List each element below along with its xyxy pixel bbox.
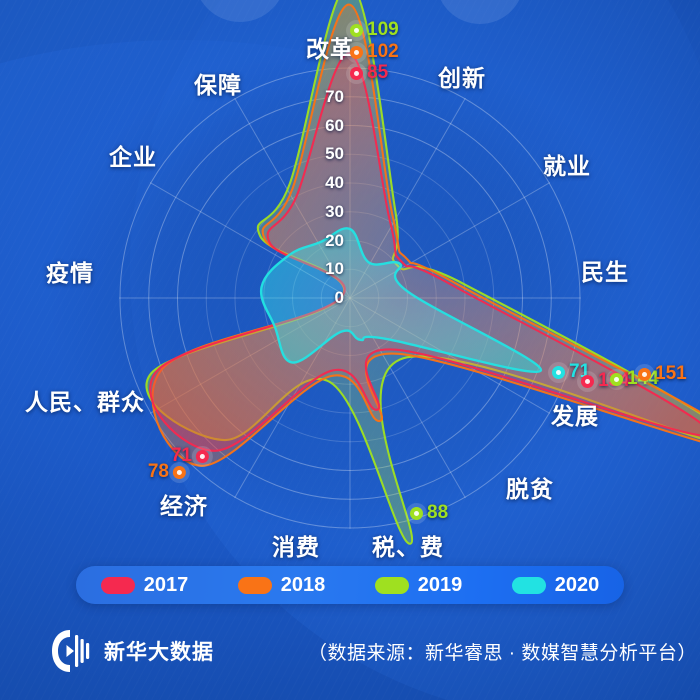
radial-tick-30: 30	[325, 202, 344, 222]
data-source-note: （数据来源：新华睿思 · 数媒智慧分析平台）	[308, 638, 697, 665]
callout-dot-icon	[638, 368, 651, 381]
callout-value: 78	[148, 461, 169, 483]
axis-label-1: 创新	[438, 59, 486, 93]
legend-item-2018[interactable]: 2018	[238, 574, 326, 597]
value-callout: 78	[148, 461, 186, 483]
xinhua-bigdata-logo-icon	[50, 628, 92, 674]
axis-label-2: 就业	[543, 147, 591, 181]
axis-label-3: 民生	[581, 253, 629, 287]
radial-tick-20: 20	[325, 231, 344, 251]
axis-label-6: 税、费	[372, 528, 444, 562]
value-callout: 109	[350, 19, 399, 41]
callout-dot-icon	[610, 373, 623, 386]
radial-tick-60: 60	[325, 116, 344, 136]
radial-tick-0: 0	[335, 288, 344, 308]
legend-label: 2017	[144, 574, 189, 597]
axis-label-12: 保障	[194, 66, 242, 100]
radial-tick-40: 40	[325, 173, 344, 193]
axis-label-0: 改革	[306, 30, 354, 64]
callout-value: 85	[367, 62, 388, 84]
callout-dot-icon	[196, 450, 209, 463]
legend-item-2019[interactable]: 2019	[375, 574, 463, 597]
axis-label-10: 疫情	[46, 254, 94, 288]
footer: 新华大数据 （数据来源：新华睿思 · 数媒智慧分析平台）	[0, 612, 700, 700]
axis-label-11: 企业	[109, 138, 157, 172]
brand: 新华大数据	[50, 628, 214, 674]
callout-dot-icon	[410, 507, 423, 520]
legend-swatch-icon	[375, 577, 409, 594]
axis-label-4: 发展	[551, 397, 599, 431]
callout-value: 88	[427, 502, 448, 524]
value-callout: 85	[350, 62, 388, 84]
legend-label: 2020	[555, 574, 600, 597]
callout-value: 109	[367, 19, 399, 41]
axis-label-9: 人民、群众	[25, 383, 145, 417]
legend-swatch-icon	[238, 577, 272, 594]
callout-value: 151	[655, 363, 687, 385]
legend[interactable]: 2017201820192020	[76, 566, 624, 604]
legend-item-2020[interactable]: 2020	[512, 574, 600, 597]
callout-value: 102	[367, 41, 399, 63]
callout-dot-icon	[350, 67, 363, 80]
legend-label: 2018	[281, 574, 326, 597]
infographic-canvas: 改革创新就业民生发展脱贫税、费消费经济人民、群众疫情企业保障 010203040…	[0, 0, 700, 700]
callout-dot-icon	[552, 366, 565, 379]
axis-label-7: 消费	[272, 528, 320, 562]
legend-label: 2019	[418, 574, 463, 597]
callout-dot-icon	[173, 466, 186, 479]
callout-dot-icon	[350, 24, 363, 37]
legend-swatch-icon	[512, 577, 546, 594]
legend-item-2017[interactable]: 2017	[101, 574, 189, 597]
callout-dot-icon	[581, 375, 594, 388]
radial-tick-50: 50	[325, 144, 344, 164]
axis-label-8: 经济	[160, 487, 208, 521]
value-callout: 88	[410, 502, 448, 524]
value-callout: 102	[350, 41, 399, 63]
callout-dot-icon	[350, 46, 363, 59]
brand-name: 新华大数据	[104, 636, 214, 666]
radial-tick-10: 10	[325, 259, 344, 279]
axis-label-5: 脱贫	[506, 470, 554, 504]
radial-tick-70: 70	[325, 87, 344, 107]
value-callout: 151	[638, 363, 687, 385]
legend-swatch-icon	[101, 577, 135, 594]
